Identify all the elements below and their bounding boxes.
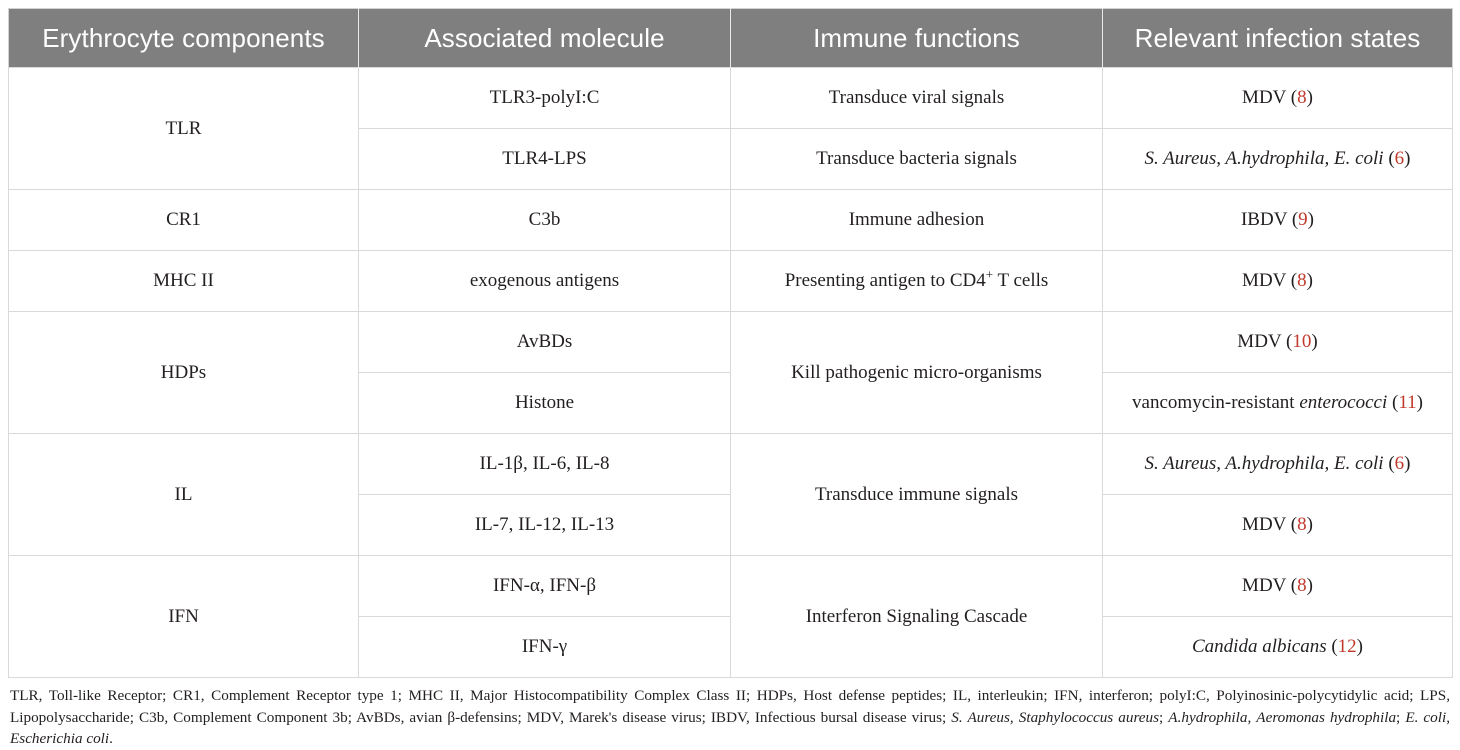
cell-infection-ifn-g: Candida albicans (12) bbox=[1103, 617, 1453, 678]
reference-number: 12 bbox=[1338, 636, 1357, 657]
cell-function-tlr3: Transduce viral signals bbox=[731, 68, 1103, 129]
footnote-species-abbrev-3: E. coli bbox=[1405, 709, 1446, 726]
table-figure: Erythrocyte components Associated molecu… bbox=[0, 0, 1460, 628]
cell-function-hdps: Kill pathogenic micro-organisms bbox=[731, 312, 1103, 434]
cell-molecule-ifn-g: IFN-γ bbox=[359, 617, 731, 678]
footnote-species-full-2: Aeromonas hydrophila bbox=[1256, 709, 1396, 726]
infection-species: enterococci bbox=[1299, 392, 1387, 413]
cell-infection-il-group1: S. Aureus, A.hydrophila, E. coli (6) bbox=[1103, 434, 1453, 495]
infection-suffix: ) bbox=[1307, 514, 1313, 535]
cell-component-mhcii: MHC II bbox=[9, 251, 359, 312]
infection-suffix: ) bbox=[1307, 270, 1313, 291]
cell-molecule-c3b: C3b bbox=[359, 190, 731, 251]
infection-mid: ( bbox=[1384, 453, 1395, 474]
infection-text: MDV ( bbox=[1242, 270, 1297, 291]
table-row: TLR TLR3-polyI:C Transduce viral signals… bbox=[9, 68, 1453, 129]
infection-text: MDV ( bbox=[1242, 575, 1297, 596]
footnote-sep: ; bbox=[1159, 709, 1168, 726]
footnote-species-full-1: Staphylococcus aureus bbox=[1019, 709, 1159, 726]
reference-number: 8 bbox=[1297, 270, 1307, 291]
infection-text: MDV ( bbox=[1242, 514, 1297, 535]
reference-number: 11 bbox=[1398, 392, 1416, 413]
cell-infection-mhcii: MDV (8) bbox=[1103, 251, 1453, 312]
infection-suffix: ) bbox=[1417, 392, 1423, 413]
table-row: CR1 C3b Immune adhesion IBDV (9) bbox=[9, 190, 1453, 251]
reference-number: 6 bbox=[1395, 148, 1405, 169]
reference-number: 8 bbox=[1297, 87, 1307, 108]
infection-suffix: ) bbox=[1307, 575, 1313, 596]
function-text: Presenting antigen to CD4 bbox=[785, 270, 986, 291]
column-header-relevant-infection-states: Relevant infection states bbox=[1103, 9, 1453, 68]
cell-infection-tlr4: S. Aureus, A.hydrophila, E. coli (6) bbox=[1103, 129, 1453, 190]
cell-function-cr1: Immune adhesion bbox=[731, 190, 1103, 251]
function-text-post: T cells bbox=[993, 270, 1048, 291]
footnote-species-abbrev-1: S. Aureus bbox=[951, 709, 1010, 726]
superscript-plus: + bbox=[986, 267, 993, 282]
table-footnote: TLR, Toll-like Receptor; CR1, Complement… bbox=[8, 685, 1452, 750]
table-row: IFN IFN-α, IFN-β Interferon Signaling Ca… bbox=[9, 556, 1453, 617]
footnote-sep: , bbox=[1446, 709, 1450, 726]
infection-species: S. Aureus, A.hydrophila, E. coli bbox=[1145, 148, 1384, 169]
cell-function-ifn: Interferon Signaling Cascade bbox=[731, 556, 1103, 678]
cell-infection-avbds: MDV (10) bbox=[1103, 312, 1453, 373]
infection-suffix: ) bbox=[1307, 87, 1313, 108]
reference-number: 9 bbox=[1298, 209, 1308, 230]
cell-function-il: Transduce immune signals bbox=[731, 434, 1103, 556]
footnote-end: . bbox=[109, 730, 113, 747]
cell-infection-ifn-ab: MDV (8) bbox=[1103, 556, 1453, 617]
cell-function-mhcii: Presenting antigen to CD4+ T cells bbox=[731, 251, 1103, 312]
table-row: IL IL-1β, IL-6, IL-8 Transduce immune si… bbox=[9, 434, 1453, 495]
cell-infection-il-group2: MDV (8) bbox=[1103, 495, 1453, 556]
cell-molecule-il-group1: IL-1β, IL-6, IL-8 bbox=[359, 434, 731, 495]
cell-function-tlr4: Transduce bacteria signals bbox=[731, 129, 1103, 190]
erythrocyte-immune-table: Erythrocyte components Associated molecu… bbox=[8, 8, 1453, 678]
cell-molecule-tlr4: TLR4-LPS bbox=[359, 129, 731, 190]
infection-suffix: ) bbox=[1357, 636, 1363, 657]
table-row: HDPs AvBDs Kill pathogenic micro-organis… bbox=[9, 312, 1453, 373]
column-header-associated-molecule: Associated molecule bbox=[359, 9, 731, 68]
cell-molecule-exogenous-antigens: exogenous antigens bbox=[359, 251, 731, 312]
cell-component-tlr: TLR bbox=[9, 68, 359, 190]
column-header-erythrocyte-components: Erythrocyte components bbox=[9, 9, 359, 68]
cell-infection-tlr3: MDV (8) bbox=[1103, 68, 1453, 129]
cell-infection-histone: vancomycin-resistant enterococci (11) bbox=[1103, 373, 1453, 434]
reference-number: 8 bbox=[1297, 575, 1307, 596]
infection-text: IBDV ( bbox=[1241, 209, 1298, 230]
infection-suffix: ) bbox=[1404, 148, 1410, 169]
infection-mid: ( bbox=[1384, 148, 1395, 169]
reference-number: 6 bbox=[1395, 453, 1405, 474]
infection-suffix: ) bbox=[1404, 453, 1410, 474]
header-row: Erythrocyte components Associated molecu… bbox=[9, 9, 1453, 68]
cell-component-il: IL bbox=[9, 434, 359, 556]
cell-component-cr1: CR1 bbox=[9, 190, 359, 251]
footnote-sep: ; bbox=[1396, 709, 1405, 726]
infection-text: vancomycin-resistant bbox=[1132, 392, 1299, 413]
reference-number: 8 bbox=[1297, 514, 1307, 535]
cell-molecule-histone: Histone bbox=[359, 373, 731, 434]
infection-mid: ( bbox=[1327, 636, 1338, 657]
reference-number: 10 bbox=[1292, 331, 1311, 352]
cell-molecule-tlr3: TLR3-polyI:C bbox=[359, 68, 731, 129]
cell-infection-cr1: IBDV (9) bbox=[1103, 190, 1453, 251]
footnote-species-abbrev-2: A.hydrophila bbox=[1168, 709, 1247, 726]
cell-component-hdps: HDPs bbox=[9, 312, 359, 434]
table-body: TLR TLR3-polyI:C Transduce viral signals… bbox=[9, 68, 1453, 678]
column-header-immune-functions: Immune functions bbox=[731, 9, 1103, 68]
cell-molecule-ifn-ab: IFN-α, IFN-β bbox=[359, 556, 731, 617]
infection-suffix: ) bbox=[1308, 209, 1314, 230]
table-row: MHC II exogenous antigens Presenting ant… bbox=[9, 251, 1453, 312]
cell-molecule-il-group2: IL-7, IL-12, IL-13 bbox=[359, 495, 731, 556]
infection-species: S. Aureus, A.hydrophila, E. coli bbox=[1145, 453, 1384, 474]
infection-text: MDV ( bbox=[1242, 87, 1297, 108]
cell-molecule-avbds: AvBDs bbox=[359, 312, 731, 373]
footnote-sep: , bbox=[1010, 709, 1019, 726]
cell-component-ifn: IFN bbox=[9, 556, 359, 678]
infection-suffix: ) bbox=[1311, 331, 1317, 352]
infection-text: MDV ( bbox=[1237, 331, 1292, 352]
infection-mid: ( bbox=[1387, 392, 1398, 413]
infection-species: Candida albicans bbox=[1192, 636, 1327, 657]
footnote-sep: , bbox=[1247, 709, 1256, 726]
table-header: Erythrocyte components Associated molecu… bbox=[9, 9, 1453, 68]
footnote-species-full-3: Escherichia coli bbox=[10, 730, 109, 747]
